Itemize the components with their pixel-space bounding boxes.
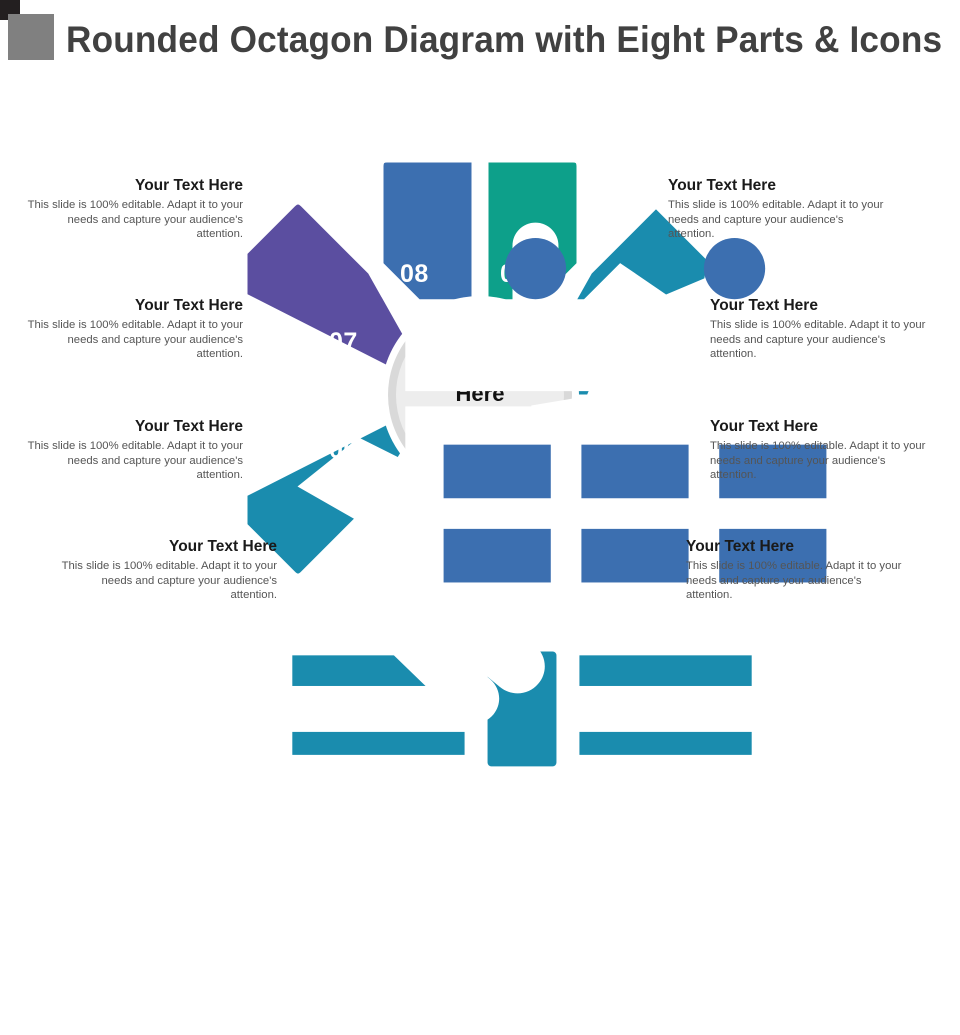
caption-heading: Your Text Here [18, 176, 243, 195]
caption-06: Your Text Here This slide is 100% editab… [18, 417, 243, 483]
calendar-icon [390, 192, 446, 244]
octagon-diagram: Your Text Here 01 02 03 04 05 06 07 08 [235, 150, 725, 640]
caption-heading: Your Text Here [668, 176, 893, 195]
caption-heading: Your Text Here [18, 296, 243, 315]
caption-body: This slide is 100% editable. Adapt it to… [18, 439, 243, 483]
caption-body: This slide is 100% editable. Adapt it to… [686, 559, 911, 603]
caption-body: This slide is 100% editable. Adapt it to… [710, 439, 935, 483]
caption-02: Your Text Here This slide is 100% editab… [710, 296, 935, 362]
caption-body: This slide is 100% editable. Adapt it to… [18, 318, 243, 362]
page-title: Rounded Octagon Diagram with Eight Parts… [66, 16, 902, 64]
caption-08: Your Text Here This slide is 100% editab… [18, 176, 243, 242]
caption-01: Your Text Here This slide is 100% editab… [668, 176, 893, 242]
caption-heading: Your Text Here [52, 537, 277, 556]
caption-heading: Your Text Here [710, 296, 935, 315]
corner-decoration-gray [8, 14, 54, 60]
handshake-icon [273, 315, 337, 361]
caption-07: Your Text Here This slide is 100% editab… [18, 296, 243, 362]
caption-heading: Your Text Here [710, 417, 935, 436]
caption-body: This slide is 100% editable. Adapt it to… [52, 559, 277, 603]
caption-05: Your Text Here This slide is 100% editab… [52, 537, 277, 603]
caption-body: This slide is 100% editable. Adapt it to… [18, 198, 243, 242]
caption-body: This slide is 100% editable. Adapt it to… [710, 318, 935, 362]
caption-heading: Your Text Here [18, 417, 243, 436]
caption-heading: Your Text Here [686, 537, 911, 556]
caption-04: Your Text Here This slide is 100% editab… [686, 537, 911, 603]
caption-03: Your Text Here This slide is 100% editab… [710, 417, 935, 483]
caption-body: This slide is 100% editable. Adapt it to… [668, 198, 893, 242]
